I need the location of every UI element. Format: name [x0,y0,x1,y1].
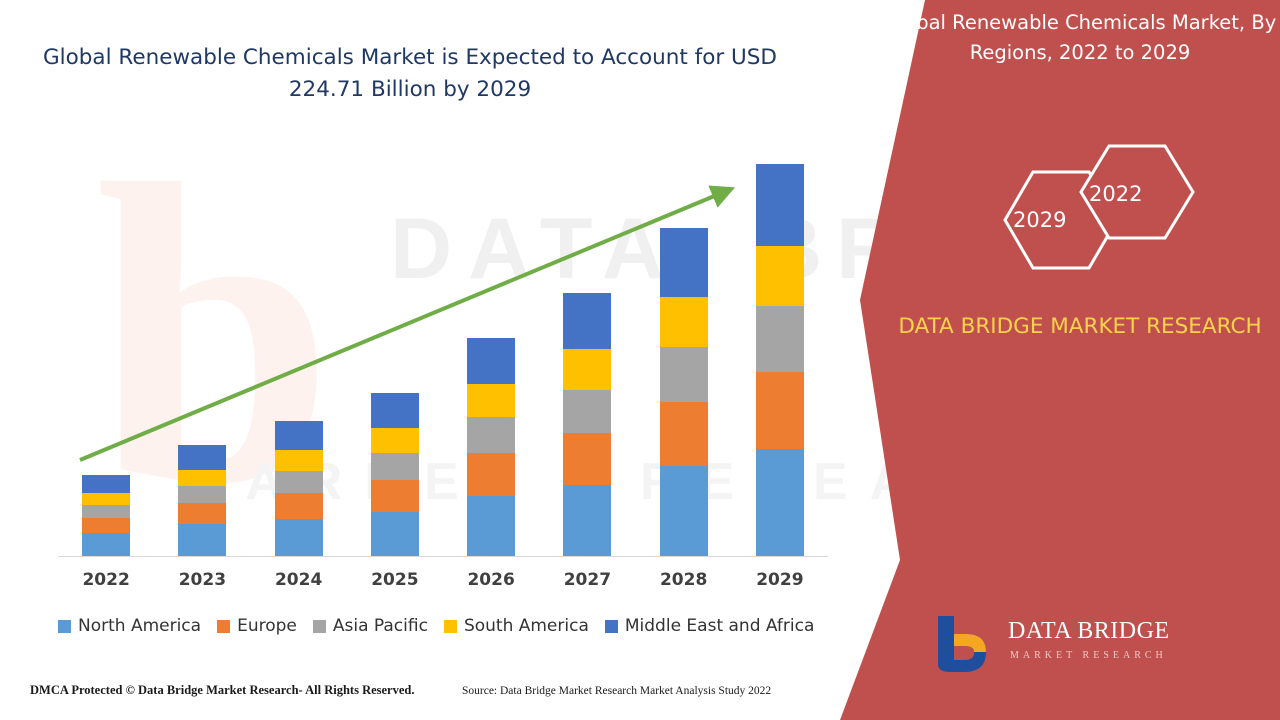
legend-label: Europe [237,616,297,636]
chart-title: Global Renewable Chemicals Market is Exp… [40,42,780,106]
source-text: Source: Data Bridge Market Research Mark… [462,685,771,697]
legend-swatch-icon [217,620,230,633]
x-axis-label-2027: 2027 [542,570,632,590]
legend-swatch-icon [58,620,71,633]
report-title: Global Renewable Chemicals Market, By Re… [880,8,1280,68]
legend-swatch-icon [444,620,457,633]
legend-item-asia-pacific[interactable]: Asia Pacific [313,616,428,636]
company-logo: DATA BRIDGE MARKET RESEARCH [930,612,1180,682]
hexagon-badges: 2029 2022 [985,140,1205,300]
growth-trend-arrow [58,150,828,560]
legend-label: Middle East and Africa [625,616,815,636]
chart-panel: Global Renewable Chemicals Market is Exp… [0,0,900,720]
legend-item-middle-east-and-africa[interactable]: Middle East and Africa [605,616,815,636]
x-axis-label-2022: 2022 [61,570,151,590]
logo-text: DATA BRIDGE [1008,618,1170,645]
x-axis-label-2026: 2026 [446,570,536,590]
chart-legend: North AmericaEuropeAsia PacificSouth Ame… [58,616,838,636]
hexagon-front-label: 2022 [1089,182,1142,206]
legend-label: North America [78,616,201,636]
hexagon-back-label: 2029 [1013,208,1066,232]
x-axis-label-2029: 2029 [735,570,825,590]
legend-swatch-icon [313,620,326,633]
legend-label: South America [464,616,589,636]
x-axis-label-2024: 2024 [254,570,344,590]
legend-swatch-icon [605,620,618,633]
legend-label: Asia Pacific [333,616,428,636]
x-axis-line [58,556,828,557]
legend-item-north-america[interactable]: North America [58,616,201,636]
logo-subtext: MARKET RESEARCH [1010,650,1167,661]
data-bridge-logo-icon [930,612,1000,678]
legend-item-europe[interactable]: Europe [217,616,297,636]
brand-name: DATA BRIDGE MARKET RESEARCH [880,310,1280,344]
legend-item-south-america[interactable]: South America [444,616,589,636]
x-axis-label-2023: 2023 [157,570,247,590]
x-axis-label-2028: 2028 [639,570,729,590]
x-axis-labels: 20222023202420252026202720282029 [58,570,828,598]
x-axis-label-2025: 2025 [350,570,440,590]
copyright-text: DMCA Protected © Data Bridge Market Rese… [30,683,415,698]
